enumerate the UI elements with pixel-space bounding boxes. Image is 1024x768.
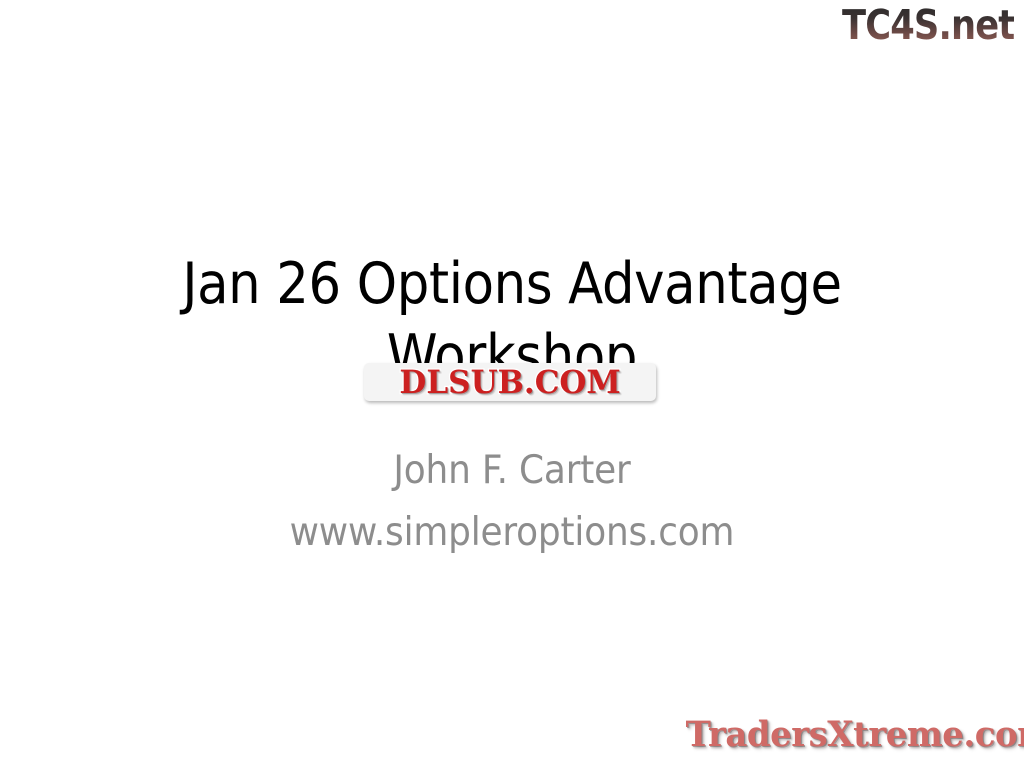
subtitle-author: John F. Carter [129, 440, 894, 502]
tc4s-watermark: TC4S.net [842, 2, 1014, 48]
dlsub-watermark-box: DLSUB.COM [364, 363, 656, 401]
dlsub-watermark-text: DLSUB.COM [399, 365, 620, 399]
presentation-slide: TC4S.net Jan 26 Options Advantage Worksh… [0, 0, 1024, 768]
subtitle-placeholder: John F. Carter www.simpleroptions.com [96, 440, 928, 564]
tradersxtreme-watermark: TradersXtreme.com [680, 712, 1014, 758]
subtitle-website: www.simpleroptions.com [129, 502, 894, 564]
tradersxtreme-watermark-text: TradersXtreme.com [686, 715, 1024, 755]
